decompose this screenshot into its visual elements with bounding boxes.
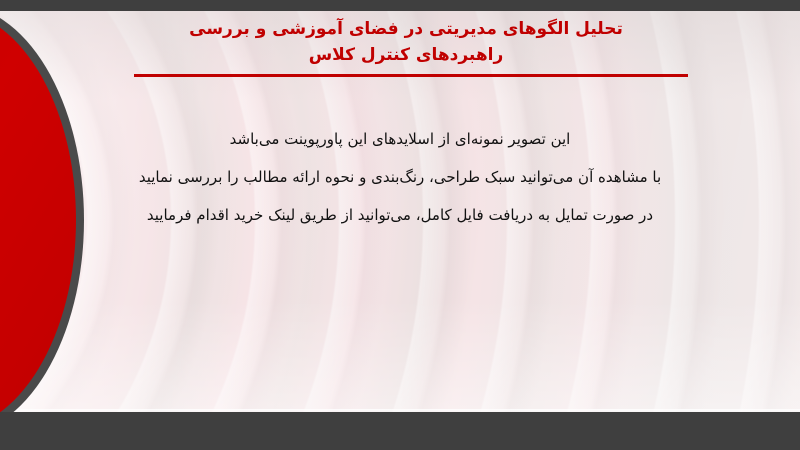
slide-title-line-2: راهبردهای کنترل کلاس <box>120 42 692 68</box>
slide-title: تحلیل الگوهای مدیریتی در فضای آموزشی و ب… <box>120 16 692 68</box>
body-line-1: این تصویر نمونه‌ای از اسلایدهای این پاور… <box>40 120 760 158</box>
slide-title-line-1: تحلیل الگوهای مدیریتی در فضای آموزشی و ب… <box>120 16 692 42</box>
slide-body-text: این تصویر نمونه‌ای از اسلایدهای این پاور… <box>40 120 760 234</box>
frame-band-bottom <box>0 412 800 450</box>
title-underline-rule <box>134 74 688 77</box>
body-line-2: با مشاهده آن می‌توانید سبک طراحی، رنگ‌بن… <box>40 158 760 196</box>
frame-band-top <box>0 0 800 11</box>
body-line-3: در صورت تمایل به دریافت فایل کامل، می‌تو… <box>40 196 760 234</box>
presentation-slide: تحلیل الگوهای مدیریتی در فضای آموزشی و ب… <box>0 0 800 450</box>
